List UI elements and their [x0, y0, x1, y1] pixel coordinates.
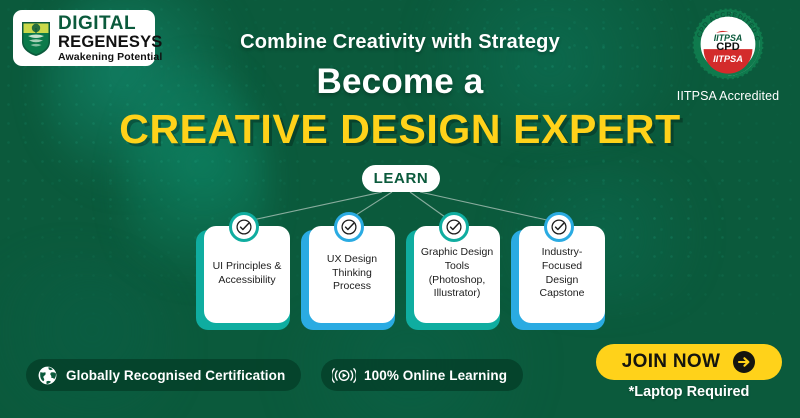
- course-modules-list: UI Principles & Accessibility UX Design …: [196, 226, 606, 330]
- list-item[interactable]: Graphic Design Tools (Photoshop, Illustr…: [406, 226, 500, 330]
- learn-badge: LEARN: [362, 165, 440, 192]
- module-label: UX Design Thinking Process: [315, 253, 389, 295]
- feature-pill-online-learning: 100% Online Learning: [321, 359, 523, 391]
- broadcast-play-icon: [332, 365, 356, 386]
- check-circle-icon: [229, 212, 259, 242]
- module-label: UI Principles & Accessibility: [210, 260, 284, 288]
- feature-pill-certification: Globally Recognised Certification: [26, 359, 301, 391]
- module-label: Graphic Design Tools (Photoshop, Illustr…: [420, 246, 494, 301]
- eyebrow-text: Combine Creativity with Strategy: [0, 31, 800, 54]
- module-label: Industry-Focused Design Capstone: [525, 246, 599, 301]
- check-circle-icon: [439, 212, 469, 242]
- check-circle-icon: [334, 212, 364, 242]
- logo-line-1: DIGITAL: [58, 14, 163, 33]
- globe-icon: [37, 365, 58, 386]
- list-item[interactable]: UX Design Thinking Process: [301, 226, 395, 330]
- check-circle-icon: [544, 212, 574, 242]
- arrow-right-circle-icon: [732, 350, 756, 374]
- join-now-button[interactable]: JOIN NOW: [596, 344, 782, 380]
- page-title: Become a: [0, 62, 800, 102]
- promo-banner: DIGITAL REGENESYS Awakening Potential CP…: [0, 0, 800, 418]
- feature-label: Globally Recognised Certification: [66, 368, 285, 383]
- join-now-label: JOIN NOW: [622, 351, 720, 373]
- list-item[interactable]: Industry-Focused Design Capstone: [511, 226, 605, 330]
- laptop-required-note: *Laptop Required: [596, 384, 782, 400]
- list-item[interactable]: UI Principles & Accessibility: [196, 226, 290, 330]
- feature-label: 100% Online Learning: [364, 368, 507, 383]
- page-subtitle: CREATIVE DESIGN EXPERT: [0, 106, 800, 153]
- learn-badge-label: LEARN: [374, 170, 429, 187]
